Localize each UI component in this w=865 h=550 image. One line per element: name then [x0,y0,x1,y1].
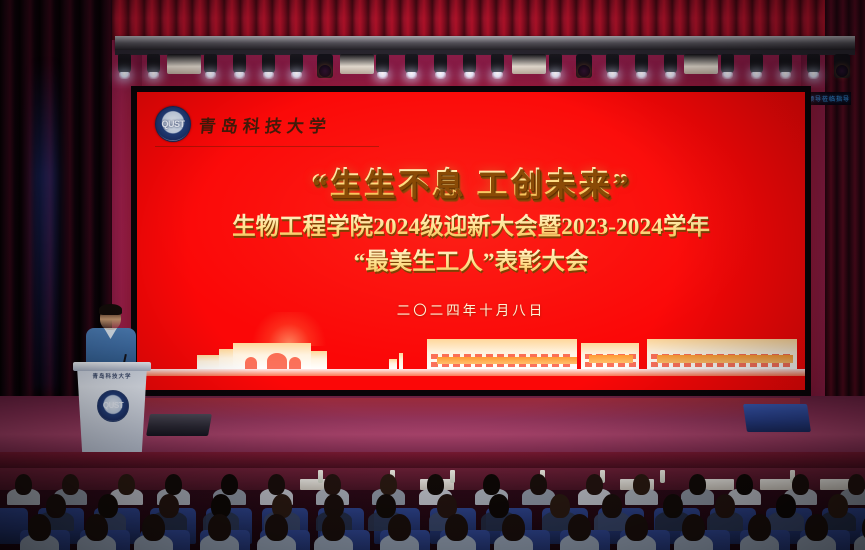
audience-person-head [268,474,285,495]
audience-person-head [489,494,509,518]
stage-monitor-right [743,404,811,432]
audience-person-head [208,514,231,541]
audience-person-head [586,474,603,495]
stage-light [491,54,504,74]
water-bottle [450,470,455,483]
skyline-arch-opening [245,357,257,369]
university-lockup: QUST 青岛科技大学 [155,106,331,142]
audience-person-head [550,494,570,518]
skyline-arch-opening [289,357,301,369]
stage-light [434,54,447,74]
audience-person-head [221,474,238,495]
audience-person-head [15,474,32,495]
skyline-building [389,359,397,369]
event-title-line-1: 生物工程学院2024级迎新大会暨2023-2024学年 [137,210,805,246]
stage-light [576,54,592,78]
lighting-truss-lower-rail [115,50,855,55]
stage-light [779,54,792,74]
audience-person-head [848,474,865,495]
audience-person-head [388,514,411,541]
skyline-building [219,349,233,369]
audience-area [0,452,865,550]
place-name-card [760,479,794,490]
event-slogan: “生生不息 工创未来” [137,164,805,204]
podium-university-text: 青岛科技大学 [81,372,143,380]
stage-light [684,54,718,74]
skyline-building [399,353,403,369]
event-title-line-2: “最美生工人”表彰大会 [137,245,805,280]
skyline-building [589,355,633,363]
skyline-building [311,351,327,369]
audience-person-head [376,494,396,518]
stage-light [204,54,217,74]
auditorium-scene: 欢迎领导莅临指导 QUST 青岛科技大学 “生生不息 工创未来” 生物工程学院2… [0,0,865,550]
skyline-ground-line [137,369,805,376]
stage-light [512,54,546,74]
audience-person-head [828,494,848,518]
audience-person-head [568,514,591,541]
audience-person-head [85,514,108,541]
audience-person-head [483,474,500,495]
skyline-building [437,357,577,364]
audience-person-head [427,474,444,495]
stage-light [317,54,333,78]
audience-person-head [165,474,182,495]
audience-person-head [445,514,468,541]
audience-person-head [530,474,547,495]
stage-light [290,54,303,74]
audience-person-head [46,494,66,518]
audience-person-head [324,474,341,495]
audience-person-head [776,494,796,518]
podium-top-surface [73,362,151,371]
audience-person-head [62,474,79,495]
audience-person-head [28,514,51,541]
skyline-arch-opening [267,353,287,369]
lighting-truss [115,36,855,50]
stage-light [167,54,201,74]
stage-light [606,54,619,74]
stage-light [750,54,763,74]
skyline-building [197,355,219,369]
audience-person-head [118,474,135,495]
audience-person-head [502,514,525,541]
audience-back-rail [0,452,865,468]
stage-light [340,54,374,74]
podium-with-speaker: 青岛科技大学 QUST [73,300,151,460]
stage-light [463,54,476,74]
audience-person-head [682,514,705,541]
audience-person-head [633,474,650,495]
stage-light [549,54,562,74]
led-screen: QUST 青岛科技大学 “生生不息 工创未来” 生物工程学院2024级迎新大会暨… [137,92,805,390]
audience-person-head [792,474,809,495]
stage-light [118,54,131,74]
screen-text-block: “生生不息 工创未来” 生物工程学院2024级迎新大会暨2023-2024学年 … [137,164,805,319]
university-seal-icon: QUST [155,106,191,142]
water-bottle [660,470,665,483]
logo-divider-rule [155,146,379,147]
audience-person-head [265,514,288,541]
audience-person-head [805,514,828,541]
stage-light [635,54,648,74]
firework-burst-left [249,312,329,346]
audience-person-head [736,474,753,495]
audience-person-head [689,474,706,495]
stage-light [147,54,160,74]
water-bottle [318,470,323,483]
audience-person-head [748,514,771,541]
podium-seal-icon: QUST [97,390,129,422]
skyline-building [657,355,793,363]
stage-light [807,54,820,74]
audience-person-head [625,514,648,541]
podium-seal-abbr: QUST [98,401,128,410]
stage-light [405,54,418,74]
audience-person-head [380,474,397,495]
seal-abbr-text: QUST [161,119,184,129]
event-date: 二〇二四年十月八日 [137,299,805,319]
stage-monitor-left [146,414,212,436]
stage-light [262,54,275,74]
stage-light [233,54,246,74]
campus-skyline-graphic [137,318,805,376]
university-name-text: 青岛科技大学 [198,112,333,137]
audience-person-head [142,514,165,541]
stage-floor-reflection [140,398,800,420]
audience-person-head [159,494,179,518]
audience-person-head [715,494,735,518]
stage-light [721,54,734,74]
stage-light [834,54,850,78]
stage-light [664,54,677,74]
audience-person-head [322,514,345,541]
speaker-hair [99,304,122,315]
blue-light-wash-left [32,60,58,390]
audience-person-head [663,494,683,518]
audience-person-head [602,494,622,518]
stage-light [376,54,389,74]
